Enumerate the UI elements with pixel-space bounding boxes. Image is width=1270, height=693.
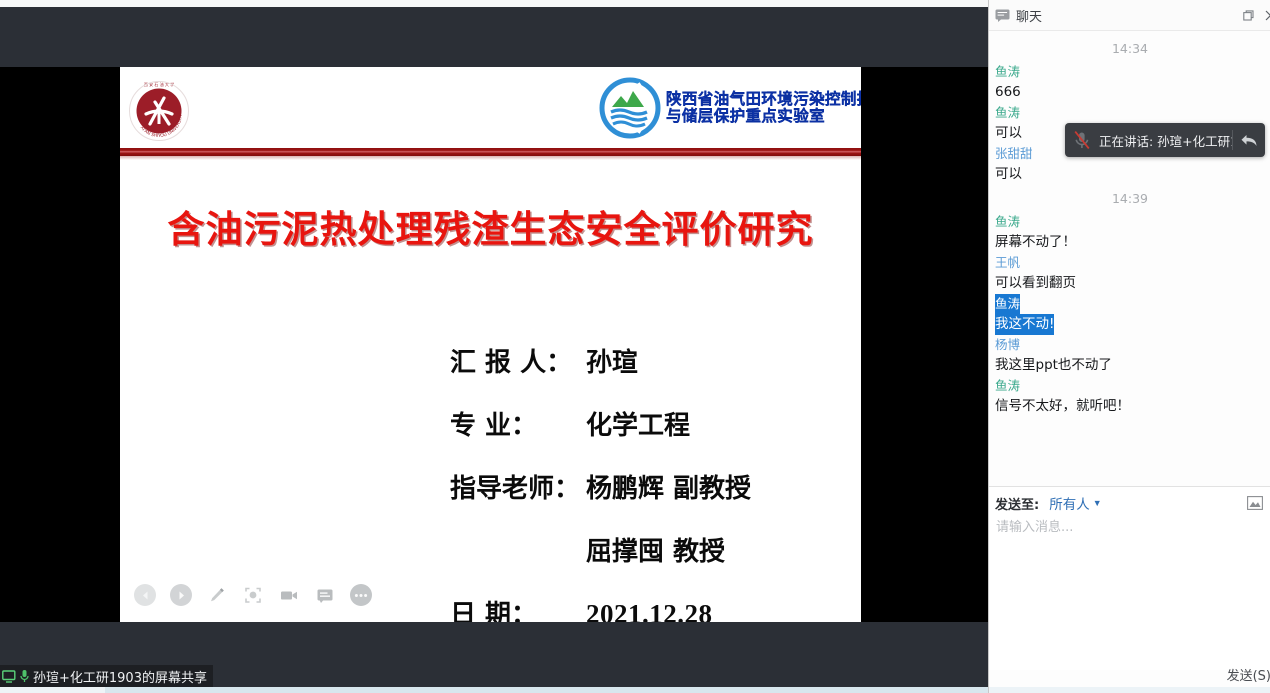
speaking-toast-text: 正在讲话: 孙瑄+化工研19... bbox=[1099, 131, 1232, 150]
send-to-dropdown[interactable]: 所有人 bbox=[1049, 493, 1090, 513]
chat-message-list[interactable]: 14:34 鱼涛 666 鱼涛 可以 张甜甜 可以 14:39 鱼涛 屏幕不动了… bbox=[989, 31, 1270, 489]
info-label: 指导老师： bbox=[450, 468, 586, 505]
windows-taskbar-edge bbox=[0, 687, 988, 693]
slide-header: 西 安 石 油 大 学 XI'AN SHIYOU UNIVERSITY bbox=[120, 67, 861, 148]
info-value: 屈撑囤 教授 bbox=[586, 531, 725, 568]
send-to-label: 发送至: bbox=[995, 494, 1039, 513]
info-value: 杨鹏辉 副教授 bbox=[586, 468, 751, 505]
chat-text: 我这里ppt也不动了 bbox=[995, 355, 1112, 376]
screenshot-icon[interactable] bbox=[1247, 496, 1263, 510]
chat-text: 可以看到翻页 bbox=[995, 273, 1076, 294]
header-divider-shadow bbox=[120, 156, 861, 160]
more-options-icon[interactable] bbox=[350, 584, 372, 606]
chat-window-buttons[interactable] bbox=[1242, 9, 1270, 22]
chat-message-selected[interactable]: 鱼涛 我这不动! bbox=[989, 294, 1270, 335]
screen-share-icon bbox=[2, 670, 16, 683]
chat-bubble-icon bbox=[995, 9, 1010, 22]
chat-panel: 聊天 14:34 鱼涛 666 鱼涛 可以 张甜甜 可以 14:39 鱼涛 屏幕… bbox=[988, 0, 1270, 693]
chat-sender: 鱼涛 bbox=[995, 294, 1020, 314]
taskbar-screen-share-item[interactable]: 孙瑄+化工研1903的屏幕共享 bbox=[0, 665, 213, 687]
chat-text: 可以 bbox=[995, 164, 1022, 185]
pen-annotate-icon[interactable] bbox=[206, 584, 228, 606]
chevron-down-icon[interactable]: ▼ bbox=[1093, 498, 1102, 508]
previous-slide-icon[interactable] bbox=[134, 584, 156, 606]
lab-logo-group: 陕西省油气田环境污染控制技术 与储层保护重点实验室 bbox=[598, 75, 853, 141]
chat-sender: 王帆 bbox=[995, 253, 1020, 273]
compose-header: 发送至: 所有人 ▼ bbox=[989, 487, 1270, 515]
chat-send-bar: 发送(S) bbox=[989, 662, 1270, 687]
presenter-toolbar[interactable] bbox=[134, 584, 372, 606]
chat-text: 可以 bbox=[995, 123, 1022, 144]
screen-share-region: 西 安 石 油 大 学 XI'AN SHIYOU UNIVERSITY bbox=[0, 0, 988, 693]
chat-titlebar: 聊天 bbox=[989, 0, 1270, 31]
lab-name-line2: 与储层保护重点实验室 bbox=[666, 108, 861, 125]
next-slide-icon[interactable] bbox=[170, 584, 192, 606]
lab-name-text: 陕西省油气田环境污染控制技术 与储层保护重点实验室 bbox=[666, 91, 861, 126]
info-row-advisor2: 指导老师： 屈撑囤 教授 bbox=[450, 531, 850, 568]
info-value: 化学工程 bbox=[586, 405, 690, 442]
subtitles-camera-icon[interactable] bbox=[278, 584, 300, 606]
chat-timestamp: 14:34 bbox=[989, 41, 1270, 56]
chat-message[interactable]: 杨博 我这里ppt也不动了 bbox=[989, 335, 1270, 376]
chat-message[interactable]: 鱼涛 屏幕不动了！ bbox=[989, 212, 1270, 253]
chat-message[interactable]: 鱼涛 666 bbox=[989, 62, 1270, 103]
slide-info-block: 汇 报 人： 孙瑄 专 业： 化学工程 指导老师： 杨鹏辉 副教授 指导老师： … bbox=[450, 342, 850, 622]
header-divider-rule bbox=[120, 148, 861, 156]
info-value: 孙瑄 bbox=[586, 342, 638, 379]
laser-pointer-icon[interactable] bbox=[242, 584, 264, 606]
info-label: 专 业： bbox=[450, 405, 586, 442]
chat-text: 屏幕不动了！ bbox=[995, 232, 1076, 253]
powerpoint-slide[interactable]: 西 安 石 油 大 学 XI'AN SHIYOU UNIVERSITY bbox=[120, 67, 861, 622]
info-row-presenter: 汇 报 人： 孙瑄 bbox=[450, 342, 850, 379]
chat-text: 信号不太好，就听吧！ bbox=[995, 396, 1130, 417]
info-label: 汇 报 人： bbox=[450, 342, 586, 379]
taskbar-item-label: 孙瑄+化工研1903的屏幕共享 bbox=[33, 667, 207, 686]
chat-bottom-strip bbox=[989, 687, 1270, 693]
chat-compose-area: 发送至: 所有人 ▼ 请输入消息... bbox=[989, 487, 1270, 670]
lab-name-line1: 陕西省油气田环境污染控制技术 bbox=[666, 91, 861, 108]
chat-sender: 鱼涛 bbox=[995, 212, 1020, 232]
share-top-strip bbox=[0, 0, 988, 7]
chat-sender: 鱼涛 bbox=[995, 103, 1020, 123]
chat-sender: 鱼涛 bbox=[995, 62, 1020, 82]
slide-title: 含油污泥热处理残渣生态安全评价研究 bbox=[120, 199, 861, 253]
chat-text: 我这不动! bbox=[995, 314, 1054, 335]
send-button[interactable]: 发送(S) bbox=[1227, 665, 1270, 684]
shaanxi-key-lab-logo bbox=[598, 77, 662, 139]
microphone-muted-icon bbox=[1065, 130, 1099, 150]
chat-sender: 鱼涛 bbox=[995, 376, 1020, 396]
chat-message[interactable]: 王帆 可以看到翻页 bbox=[989, 253, 1270, 294]
info-value: 2021.12.28 bbox=[586, 599, 713, 622]
microphone-icon bbox=[19, 669, 30, 683]
info-row-date: 日 期： 2021.12.28 bbox=[450, 594, 850, 622]
info-row-major: 专 业： 化学工程 bbox=[450, 405, 850, 442]
reply-arrow-icon[interactable] bbox=[1233, 133, 1265, 148]
xian-shiyou-university-logo: 西 安 石 油 大 学 XI'AN SHIYOU UNIVERSITY bbox=[128, 80, 190, 142]
chat-message-input[interactable]: 请输入消息... bbox=[989, 515, 1270, 536]
info-label: 日 期： bbox=[450, 594, 586, 622]
info-row-advisor1: 指导老师： 杨鹏辉 副教授 bbox=[450, 468, 850, 505]
chat-sender: 杨博 bbox=[995, 335, 1020, 355]
chat-text: 666 bbox=[995, 82, 1021, 103]
close-icon[interactable] bbox=[1264, 9, 1270, 22]
chat-sender: 张甜甜 bbox=[995, 144, 1033, 164]
chat-message[interactable]: 鱼涛 信号不太好，就听吧！ bbox=[989, 376, 1270, 417]
speaking-notification-toast[interactable]: 正在讲话: 孙瑄+化工研19... bbox=[1065, 123, 1265, 157]
windows-taskbar-edge-left bbox=[0, 687, 105, 693]
all-slides-icon[interactable] bbox=[314, 584, 336, 606]
chat-window-title: 聊天 bbox=[1016, 6, 1042, 25]
restore-window-icon[interactable] bbox=[1242, 9, 1255, 22]
chat-timestamp: 14:39 bbox=[989, 191, 1270, 206]
